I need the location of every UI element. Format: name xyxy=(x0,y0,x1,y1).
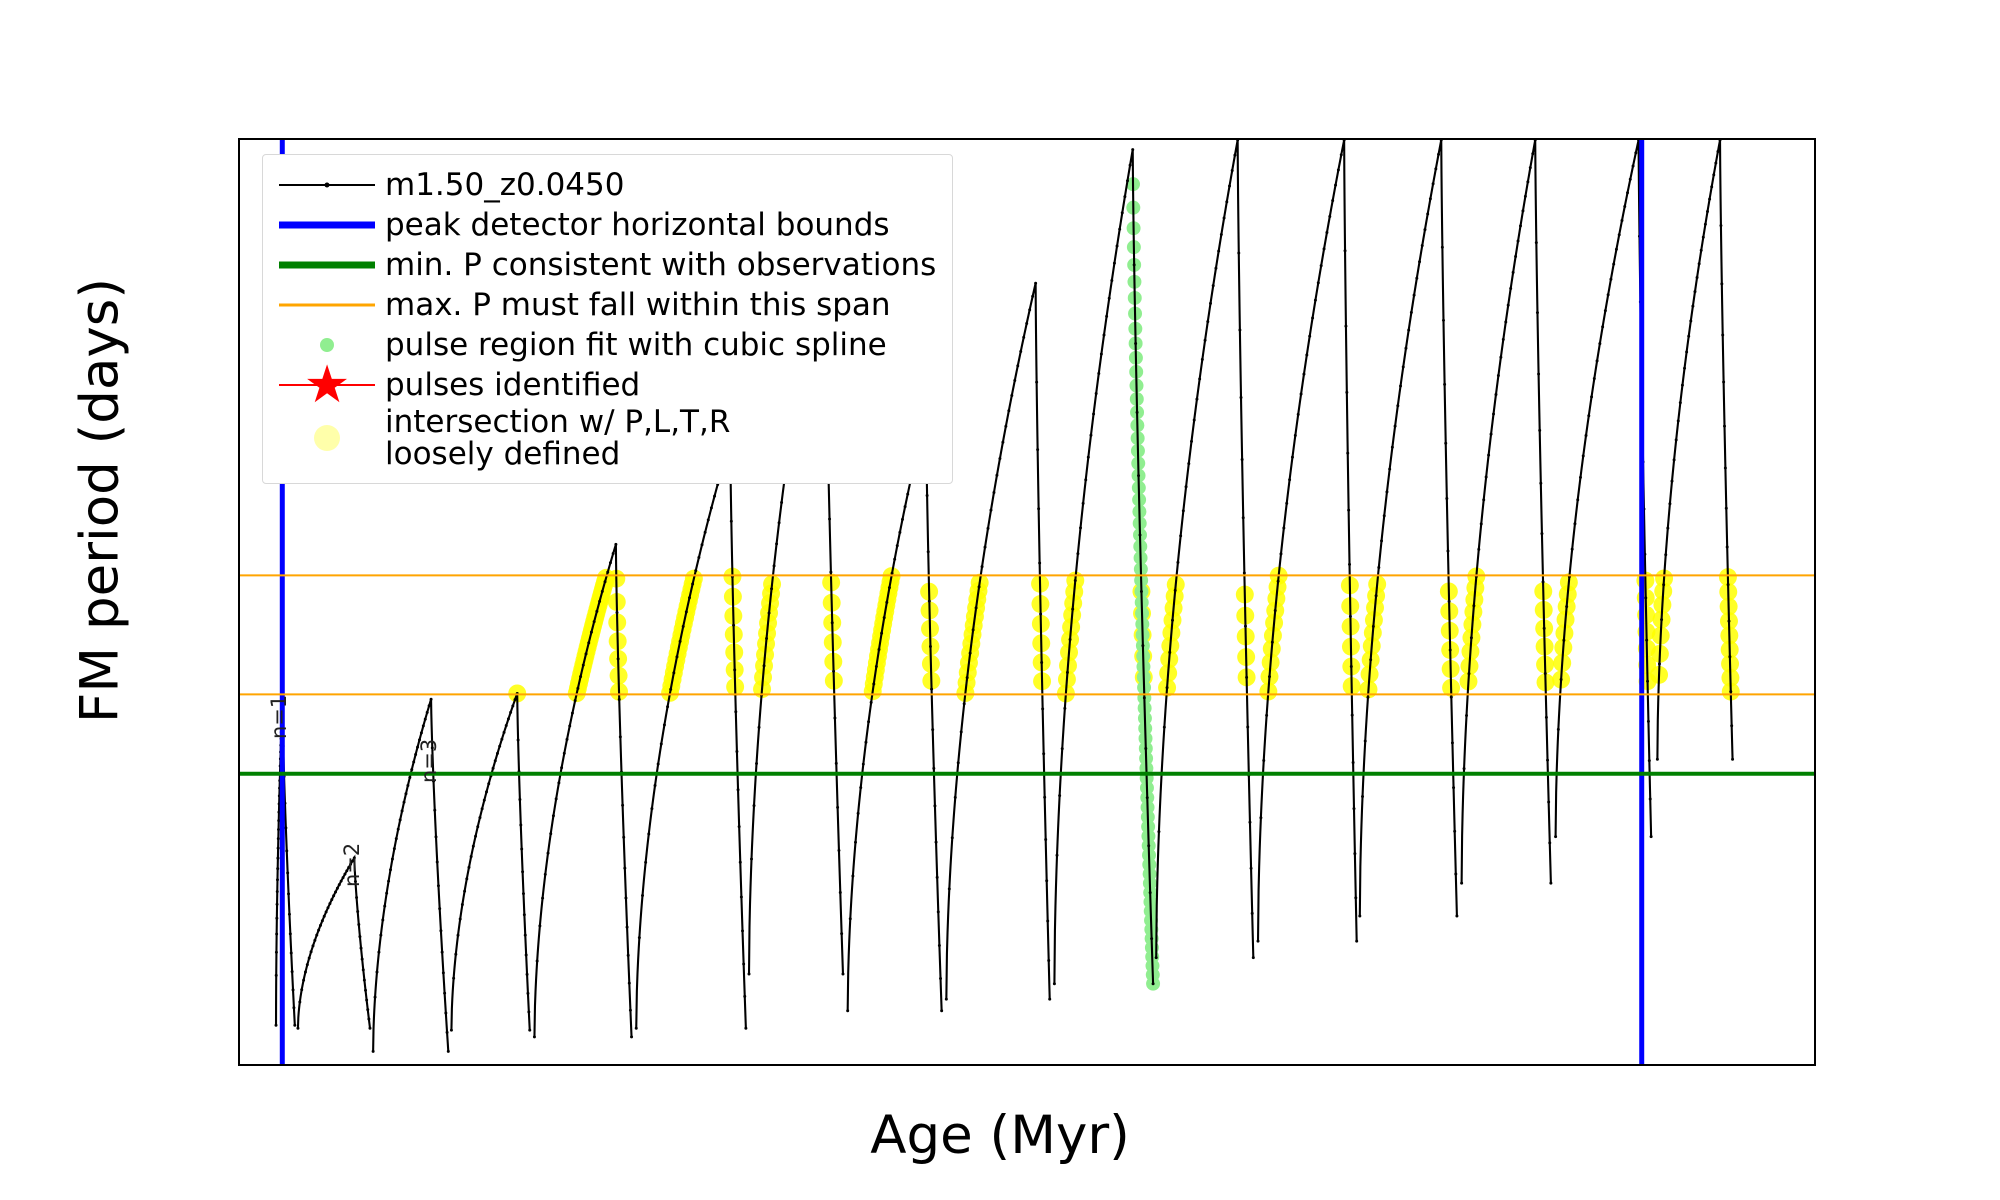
data-point-marker xyxy=(898,531,901,534)
data-point-marker xyxy=(585,652,588,655)
data-point-marker xyxy=(1421,244,1424,247)
data-point-marker xyxy=(526,973,529,976)
legend-key-line-with-dot-icon xyxy=(275,165,379,205)
data-point-marker xyxy=(1449,648,1452,651)
data-point-marker xyxy=(275,974,278,977)
data-point-marker xyxy=(906,493,909,496)
data-point-marker xyxy=(883,616,886,619)
data-point-marker xyxy=(366,1008,369,1011)
data-point-marker xyxy=(1585,434,1588,437)
data-point-marker xyxy=(1399,384,1402,387)
data-point-marker xyxy=(1687,335,1690,338)
data-point-marker xyxy=(296,1027,299,1030)
data-point-marker xyxy=(697,556,700,559)
data-point-marker xyxy=(1314,299,1317,302)
data-point-marker xyxy=(1618,233,1621,236)
data-point-marker xyxy=(627,954,630,957)
y-tick-minor xyxy=(238,247,240,250)
data-point-marker xyxy=(606,571,609,574)
data-point-marker xyxy=(1394,425,1397,428)
line-icon xyxy=(279,222,375,229)
data-point-marker xyxy=(663,723,666,726)
line-icon xyxy=(279,304,375,307)
data-point-marker xyxy=(870,701,873,704)
data-point-marker xyxy=(1022,336,1025,339)
line-icon xyxy=(279,262,375,269)
data-point-marker xyxy=(1190,440,1193,443)
data-point-marker xyxy=(1702,236,1705,239)
data-point-marker xyxy=(849,917,852,920)
x-tick-major xyxy=(1033,1064,1036,1066)
data-point-marker xyxy=(1452,786,1455,789)
data-point-marker xyxy=(1364,739,1367,742)
data-point-marker xyxy=(277,828,280,831)
data-point-marker xyxy=(896,544,899,547)
data-point-marker xyxy=(685,610,688,613)
data-point-marker xyxy=(275,951,278,954)
data-point-marker xyxy=(1137,474,1140,477)
data-point-marker xyxy=(1204,339,1207,342)
data-point-marker xyxy=(517,738,520,741)
data-point-marker xyxy=(1182,509,1185,512)
data-point-marker xyxy=(500,738,503,741)
data-point-marker xyxy=(829,571,832,574)
data-point-marker xyxy=(1214,267,1217,270)
data-point-marker xyxy=(368,1027,371,1030)
data-point-marker xyxy=(1658,662,1661,665)
data-point-marker xyxy=(1004,425,1007,428)
data-point-marker xyxy=(403,801,406,804)
x-tick-minor xyxy=(1268,1064,1271,1066)
data-point-marker xyxy=(426,711,429,714)
data-point-marker xyxy=(275,1024,278,1027)
data-point-marker xyxy=(1632,164,1635,167)
data-point-marker xyxy=(401,809,404,812)
data-point-marker xyxy=(381,918,384,921)
data-point-marker xyxy=(765,637,768,640)
data-point-marker xyxy=(276,867,279,870)
data-point-marker xyxy=(888,586,891,589)
data-point-marker xyxy=(1451,741,1454,744)
data-point-marker xyxy=(424,718,427,721)
data-point-marker xyxy=(1079,526,1082,529)
data-point-marker xyxy=(520,847,523,850)
data-point-marker xyxy=(306,963,309,966)
data-point-marker xyxy=(1396,404,1399,407)
legend-item[interactable]: max. P must fall within this span xyxy=(275,285,936,325)
data-point-marker xyxy=(1465,714,1468,717)
data-point-marker xyxy=(743,995,746,998)
data-point-marker xyxy=(654,784,657,787)
data-point-marker xyxy=(541,897,544,900)
data-point-marker xyxy=(617,657,620,660)
data-point-marker xyxy=(1444,442,1447,445)
data-curve-segment xyxy=(848,413,942,1011)
data-point-marker xyxy=(616,611,619,614)
data-point-marker xyxy=(1001,441,1004,444)
data-point-marker xyxy=(576,687,579,690)
legend-box[interactable]: m1.50_z0.0450peak detector horizontal bo… xyxy=(262,154,953,484)
data-point-marker xyxy=(1250,867,1253,870)
data-point-marker xyxy=(1375,594,1378,597)
data-point-marker xyxy=(525,954,528,957)
data-point-marker xyxy=(467,866,470,869)
data-point-marker xyxy=(694,569,697,572)
data-point-marker xyxy=(555,797,558,800)
legend-item[interactable]: m1.50_z0.0450 xyxy=(275,165,936,205)
data-point-marker xyxy=(734,710,737,713)
data-point-marker xyxy=(877,648,880,651)
data-point-marker xyxy=(701,543,704,546)
data-point-marker xyxy=(614,543,617,546)
data-point-marker xyxy=(518,798,521,801)
data-point-marker xyxy=(1482,498,1485,501)
data-point-marker xyxy=(851,874,854,877)
data-point-marker xyxy=(1257,940,1260,943)
data-point-marker xyxy=(940,1009,943,1012)
data-point-marker xyxy=(300,988,303,991)
data-point-marker xyxy=(1560,678,1563,681)
data-point-marker xyxy=(1698,262,1701,265)
data-point-marker xyxy=(998,457,1001,460)
x-tick-minor xyxy=(797,1064,800,1066)
data-point-marker xyxy=(1696,276,1699,279)
dot-icon xyxy=(325,183,330,188)
data-point-marker xyxy=(1248,821,1251,824)
data-point-marker xyxy=(1116,245,1119,248)
data-point-marker xyxy=(1679,401,1682,404)
data-point-marker xyxy=(1512,271,1515,274)
data-point-marker xyxy=(936,876,939,879)
data-point-marker xyxy=(363,979,366,982)
data-point-marker xyxy=(893,558,896,561)
data-point-marker xyxy=(582,664,585,667)
data-point-marker xyxy=(1071,608,1074,611)
data-curve-segment xyxy=(1657,140,1732,759)
data-point-marker xyxy=(481,807,484,810)
data-point-marker xyxy=(1443,383,1446,386)
data-point-marker xyxy=(566,738,569,741)
data-point-marker xyxy=(304,970,307,973)
data-point-marker xyxy=(298,1000,301,1003)
data-point-marker xyxy=(1601,325,1604,328)
data-point-marker xyxy=(399,818,402,821)
data-point-marker xyxy=(459,917,462,920)
data-curve-segment xyxy=(1462,140,1551,883)
data-point-marker xyxy=(1334,184,1337,187)
data-point-marker xyxy=(626,926,629,929)
legend-key-star-icon: ★ xyxy=(275,365,379,405)
data-point-marker xyxy=(735,750,738,753)
data-point-marker xyxy=(644,861,647,864)
data-point-marker xyxy=(308,956,311,959)
data-point-marker xyxy=(875,665,878,668)
data-point-marker xyxy=(836,806,839,809)
data-point-marker xyxy=(638,936,641,939)
data-point-marker xyxy=(1467,672,1470,675)
legend-item-label: pulses identified xyxy=(379,369,640,401)
legend-item[interactable]: ★pulses identified xyxy=(275,365,936,405)
data-point-marker xyxy=(981,565,984,568)
data-point-marker xyxy=(1609,278,1612,281)
data-point-marker xyxy=(629,1009,632,1012)
data-point-marker xyxy=(1634,151,1637,154)
data-point-marker xyxy=(406,784,409,787)
data-point-marker xyxy=(377,951,380,954)
data-point-marker xyxy=(289,932,292,935)
data-point-marker xyxy=(1016,364,1019,367)
data-point-marker xyxy=(393,847,396,850)
data-point-marker xyxy=(679,640,682,643)
data-point-marker xyxy=(1623,205,1626,208)
data-point-marker xyxy=(509,711,512,714)
data-point-marker xyxy=(846,1009,849,1012)
data-point-marker xyxy=(1147,844,1150,847)
legend-item[interactable]: pulse region fit with cubic spline xyxy=(275,325,936,365)
data-point-marker xyxy=(1209,302,1212,305)
data-point-marker xyxy=(1725,507,1728,510)
data-point-marker xyxy=(560,766,563,769)
data-point-marker xyxy=(1166,686,1169,689)
data-point-marker xyxy=(422,724,425,727)
data-point-marker xyxy=(1545,716,1548,719)
data-point-marker xyxy=(1590,395,1593,398)
x-tick-major xyxy=(1661,1064,1664,1066)
data-point-marker xyxy=(859,786,862,789)
data-point-marker xyxy=(1176,561,1179,564)
data-point-marker xyxy=(1521,209,1524,212)
data-point-marker xyxy=(598,600,601,603)
data-point-marker xyxy=(1579,476,1582,479)
data-point-marker xyxy=(1038,562,1041,565)
data-point-marker xyxy=(939,977,942,980)
data-point-marker xyxy=(1187,462,1190,465)
data-point-marker xyxy=(293,1024,296,1027)
data-point-marker xyxy=(385,892,388,895)
data-point-marker xyxy=(313,939,316,942)
y-tick-minor xyxy=(238,830,240,833)
data-point-marker xyxy=(1291,456,1294,459)
data-point-marker xyxy=(276,878,279,881)
data-point-marker xyxy=(1103,333,1106,336)
data-point-marker xyxy=(474,835,477,838)
legend-key-thick-line-icon xyxy=(275,245,379,285)
data-point-marker xyxy=(355,896,358,899)
data-point-marker xyxy=(544,873,547,876)
data-point-marker xyxy=(1010,394,1013,397)
data-point-marker xyxy=(730,520,733,523)
data-point-marker xyxy=(1463,767,1466,770)
data-point-marker xyxy=(430,698,433,701)
y-tick-major xyxy=(238,344,240,347)
legend-item-label: pulse region fit with cubic spline xyxy=(379,329,887,361)
plot-area: 20040060080010003708.43708.63708.83709.0… xyxy=(238,138,1816,1066)
data-point-marker xyxy=(1246,725,1249,728)
data-point-marker xyxy=(1206,320,1209,323)
data-point-marker xyxy=(1092,413,1095,416)
legend-item[interactable]: min. P consistent with observations xyxy=(275,245,936,285)
data-point-marker xyxy=(601,590,604,593)
data-point-marker xyxy=(328,902,331,905)
data-point-marker xyxy=(524,934,527,937)
data-point-marker xyxy=(733,668,736,671)
data-point-marker xyxy=(1437,153,1440,156)
legend-item[interactable]: intersection w/ P,L,T,R loosely defined xyxy=(275,405,936,471)
x-tick-minor xyxy=(1190,1064,1193,1066)
data-point-marker xyxy=(1308,335,1311,338)
data-point-marker xyxy=(935,841,938,844)
data-point-marker xyxy=(933,804,936,807)
data-point-marker xyxy=(383,905,386,908)
data-point-marker xyxy=(1231,169,1234,172)
data-point-marker xyxy=(1340,153,1343,156)
data-point-marker xyxy=(277,847,280,850)
data-point-marker xyxy=(1377,566,1380,569)
x-tick-minor xyxy=(1425,1064,1428,1066)
y-tick-major xyxy=(238,733,240,736)
data-point-marker xyxy=(408,776,411,779)
data-point-marker xyxy=(1720,282,1723,285)
data-point-marker xyxy=(1721,334,1724,337)
data-point-marker xyxy=(1450,696,1453,699)
data-point-marker xyxy=(1404,347,1407,350)
data-point-marker xyxy=(1265,714,1268,717)
data-point-marker xyxy=(1423,228,1426,231)
data-point-marker xyxy=(1445,497,1448,500)
data-point-marker xyxy=(358,935,361,938)
data-point-marker xyxy=(450,1029,453,1032)
data-point-marker xyxy=(587,641,590,644)
data-point-marker xyxy=(778,521,781,524)
data-point-marker xyxy=(1531,152,1534,155)
data-point-marker xyxy=(286,871,289,874)
data-point-marker xyxy=(1095,392,1098,395)
data-point-marker xyxy=(375,971,378,974)
data-point-marker xyxy=(1294,434,1297,437)
data-point-marker xyxy=(1271,641,1274,644)
data-point-marker xyxy=(1198,377,1201,380)
data-point-marker xyxy=(624,897,627,900)
data-point-marker xyxy=(1415,277,1418,280)
data-point-marker xyxy=(1344,249,1347,252)
data-point-marker xyxy=(901,518,904,521)
data-point-marker xyxy=(1538,429,1541,432)
data-point-marker xyxy=(930,688,933,691)
data-point-marker xyxy=(768,611,771,614)
data-point-marker xyxy=(927,550,930,553)
data-point-marker xyxy=(521,870,524,873)
data-point-marker xyxy=(1069,638,1072,641)
data-point-marker xyxy=(284,826,287,829)
data-point-marker xyxy=(443,992,446,995)
data-point-marker xyxy=(547,852,550,855)
data-point-marker xyxy=(465,877,468,880)
data-point-marker xyxy=(434,835,437,838)
data-point-marker xyxy=(1155,956,1158,959)
data-point-marker xyxy=(1571,548,1574,551)
data-point-marker xyxy=(1141,644,1144,647)
data-point-marker xyxy=(526,992,529,995)
data-point-marker xyxy=(1507,304,1510,307)
data-point-marker xyxy=(1074,579,1077,582)
x-tick-minor xyxy=(876,1064,879,1066)
data-point-marker xyxy=(1650,835,1653,838)
data-point-marker xyxy=(621,804,624,807)
data-point-marker xyxy=(1615,248,1618,251)
data-point-marker xyxy=(1644,596,1647,599)
data-point-marker xyxy=(1666,527,1669,530)
data-point-marker xyxy=(1043,796,1046,799)
data-point-marker xyxy=(327,906,330,909)
data-point-marker xyxy=(1728,655,1731,658)
data-point-marker xyxy=(984,546,987,549)
data-point-marker xyxy=(574,699,577,702)
data-point-marker xyxy=(1494,393,1497,396)
data-point-marker xyxy=(1681,384,1684,387)
data-point-marker xyxy=(319,924,322,927)
data-point-marker xyxy=(1042,752,1045,755)
data-point-marker xyxy=(1407,329,1410,332)
data-point-marker xyxy=(1647,720,1650,723)
data-point-marker xyxy=(1429,197,1432,200)
data-point-marker xyxy=(442,971,445,974)
data-point-marker xyxy=(523,913,526,916)
data-point-marker xyxy=(1576,498,1579,501)
data-point-marker xyxy=(839,891,842,894)
data-curve-segment xyxy=(1156,140,1253,958)
data-point-marker xyxy=(1013,379,1016,382)
y-tick-major xyxy=(238,150,240,153)
data-point-marker xyxy=(1040,661,1043,664)
data-point-marker xyxy=(1446,550,1449,553)
x-tick-minor xyxy=(326,1064,329,1066)
data-point-marker xyxy=(1129,164,1132,167)
data-point-marker xyxy=(1671,480,1674,483)
data-point-marker xyxy=(1413,294,1416,297)
data-point-marker xyxy=(325,910,328,913)
data-point-marker xyxy=(928,600,931,603)
data-point-marker xyxy=(630,1035,633,1038)
data-point-marker xyxy=(1305,353,1308,356)
data-point-marker xyxy=(707,518,710,521)
data-point-marker xyxy=(1573,522,1576,525)
data-point-marker xyxy=(854,841,857,844)
data-point-marker xyxy=(1352,761,1355,764)
data-point-marker xyxy=(1626,191,1629,194)
data-point-marker xyxy=(966,676,969,679)
data-point-marker xyxy=(1675,438,1678,441)
data-point-marker xyxy=(391,857,394,860)
data-point-marker xyxy=(590,631,593,634)
legend-item[interactable]: peak detector horizontal bounds xyxy=(275,205,936,245)
data-point-marker xyxy=(688,596,691,599)
data-point-marker xyxy=(657,762,660,765)
data-point-marker xyxy=(1726,545,1729,548)
data-point-marker xyxy=(1722,380,1725,383)
data-point-marker xyxy=(1323,247,1326,250)
dot-icon xyxy=(314,425,340,451)
data-point-marker xyxy=(1282,526,1285,529)
data-point-marker xyxy=(1118,228,1121,231)
x-tick-minor xyxy=(1582,1064,1585,1066)
data-point-marker xyxy=(831,621,834,624)
y-tick-major xyxy=(238,538,240,541)
data-point-marker xyxy=(321,919,324,922)
data-point-marker xyxy=(1108,297,1111,300)
data-point-marker xyxy=(742,962,745,965)
data-curve-segment xyxy=(276,701,295,1025)
data-point-marker xyxy=(1714,162,1717,165)
